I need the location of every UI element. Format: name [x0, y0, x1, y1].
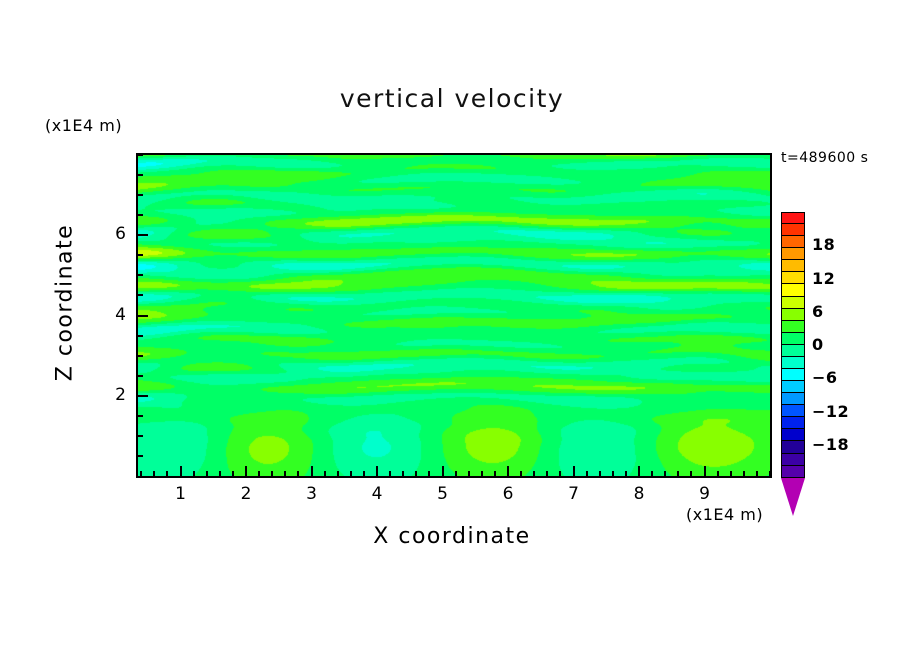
x-tick-label: 3 — [297, 484, 327, 504]
colorbar-tick-label: 12 — [812, 269, 835, 288]
x-minor-tick — [166, 471, 168, 476]
x-minor-tick — [769, 471, 771, 476]
x-minor-tick — [730, 471, 732, 476]
x-major-tick — [573, 466, 575, 476]
colorbar-band — [781, 454, 805, 466]
x-minor-tick — [206, 471, 208, 476]
x-tick-label: 9 — [690, 484, 720, 504]
x-minor-tick — [324, 471, 326, 476]
x-minor-tick — [153, 471, 155, 476]
colorbar-band — [781, 393, 805, 405]
colorbar-band — [781, 441, 805, 453]
colorbar-band — [781, 224, 805, 236]
colorbar-band — [781, 297, 805, 309]
x-minor-tick — [586, 471, 588, 476]
colorbar-tick-label: −18 — [812, 435, 849, 454]
x-tick-label: 4 — [362, 484, 392, 504]
colorbar-band — [781, 309, 805, 321]
x-minor-tick — [651, 471, 653, 476]
x-tick-label: 6 — [493, 484, 523, 504]
x-tick-label: 8 — [624, 484, 654, 504]
y-tick-label: 2 — [96, 385, 126, 405]
x-minor-tick — [415, 471, 417, 476]
x-major-tick — [704, 466, 706, 476]
x-minor-tick — [625, 471, 627, 476]
x-minor-tick — [717, 471, 719, 476]
colorbar — [781, 212, 805, 478]
colorbar-band — [781, 212, 805, 224]
y-minor-tick — [138, 194, 143, 196]
x-tick-label: 5 — [428, 484, 458, 504]
y-axis-title: Z coordinate — [53, 203, 78, 403]
x-minor-tick — [468, 471, 470, 476]
contour-plot-area — [136, 153, 772, 478]
x-minor-tick — [677, 471, 679, 476]
x-minor-tick — [690, 471, 692, 476]
x-minor-tick — [481, 471, 483, 476]
x-minor-tick — [533, 471, 535, 476]
x-axis-units-label: (x1E4 m) — [686, 505, 763, 524]
x-tick-label: 2 — [231, 484, 261, 504]
colorbar-tick-label: 0 — [812, 335, 824, 354]
y-minor-tick — [138, 415, 143, 417]
x-minor-tick — [402, 471, 404, 476]
timestamp-annotation: t=489600 s — [781, 150, 868, 166]
y-minor-tick — [138, 174, 143, 176]
x-minor-tick — [297, 471, 299, 476]
y-minor-tick — [138, 455, 143, 457]
y-minor-tick — [138, 214, 143, 216]
x-major-tick — [507, 466, 509, 476]
colorbar-band — [781, 381, 805, 393]
colorbar-band — [781, 272, 805, 284]
colorbar-tick-label: 18 — [812, 235, 835, 254]
colorbar-band — [781, 405, 805, 417]
y-major-tick — [138, 395, 148, 397]
x-minor-tick — [363, 471, 365, 476]
colorbar-cap-bottom — [781, 478, 805, 516]
x-minor-tick — [140, 471, 142, 476]
y-minor-tick — [138, 274, 143, 276]
colorbar-tick-label: 6 — [812, 302, 824, 321]
x-minor-tick — [232, 471, 234, 476]
x-minor-tick — [756, 471, 758, 476]
x-minor-tick — [743, 471, 745, 476]
colorbar-band — [781, 417, 805, 429]
x-tick-label: 7 — [559, 484, 589, 504]
colorbar-band — [781, 248, 805, 260]
x-minor-tick — [520, 471, 522, 476]
x-minor-tick — [494, 471, 496, 476]
x-minor-tick — [219, 471, 221, 476]
x-major-tick — [376, 466, 378, 476]
x-axis-title: X coordinate — [0, 524, 904, 549]
x-major-tick — [245, 466, 247, 476]
x-minor-tick — [612, 471, 614, 476]
x-minor-tick — [389, 471, 391, 476]
x-minor-tick — [599, 471, 601, 476]
y-major-tick — [138, 234, 148, 236]
y-minor-tick — [138, 254, 143, 256]
x-minor-tick — [337, 471, 339, 476]
x-minor-tick — [350, 471, 352, 476]
x-major-tick — [180, 466, 182, 476]
colorbar-band — [781, 369, 805, 381]
y-tick-label: 4 — [96, 305, 126, 325]
x-minor-tick — [455, 471, 457, 476]
colorbar-band — [781, 333, 805, 345]
y-axis-units-label: (x1E4 m) — [45, 116, 122, 135]
y-minor-tick — [138, 435, 143, 437]
y-tick-label: 6 — [96, 224, 126, 244]
y-minor-tick — [138, 294, 143, 296]
colorbar-band — [781, 357, 805, 369]
x-major-tick — [638, 466, 640, 476]
y-major-tick — [138, 315, 148, 317]
colorbar-band — [781, 345, 805, 357]
colorbar-band — [781, 260, 805, 272]
x-minor-tick — [559, 471, 561, 476]
colorbar-tick-label: −12 — [812, 402, 849, 421]
x-minor-tick — [284, 471, 286, 476]
x-major-tick — [442, 466, 444, 476]
colorbar-band — [781, 236, 805, 248]
y-minor-tick — [138, 154, 143, 156]
x-minor-tick — [258, 471, 260, 476]
x-major-tick — [311, 466, 313, 476]
y-minor-tick — [138, 335, 143, 337]
x-minor-tick — [546, 471, 548, 476]
x-minor-tick — [271, 471, 273, 476]
y-minor-tick — [138, 355, 143, 357]
x-tick-label: 1 — [166, 484, 196, 504]
y-minor-tick — [138, 375, 143, 377]
colorbar-tick-label: −6 — [812, 368, 838, 387]
colorbar-band — [781, 284, 805, 296]
colorbar-band — [781, 321, 805, 333]
x-minor-tick — [193, 471, 195, 476]
x-minor-tick — [664, 471, 666, 476]
page-title: vertical velocity — [0, 84, 904, 113]
colorbar-band — [781, 429, 805, 441]
vertical-velocity-field — [138, 155, 770, 476]
colorbar-band — [781, 466, 805, 478]
x-minor-tick — [428, 471, 430, 476]
